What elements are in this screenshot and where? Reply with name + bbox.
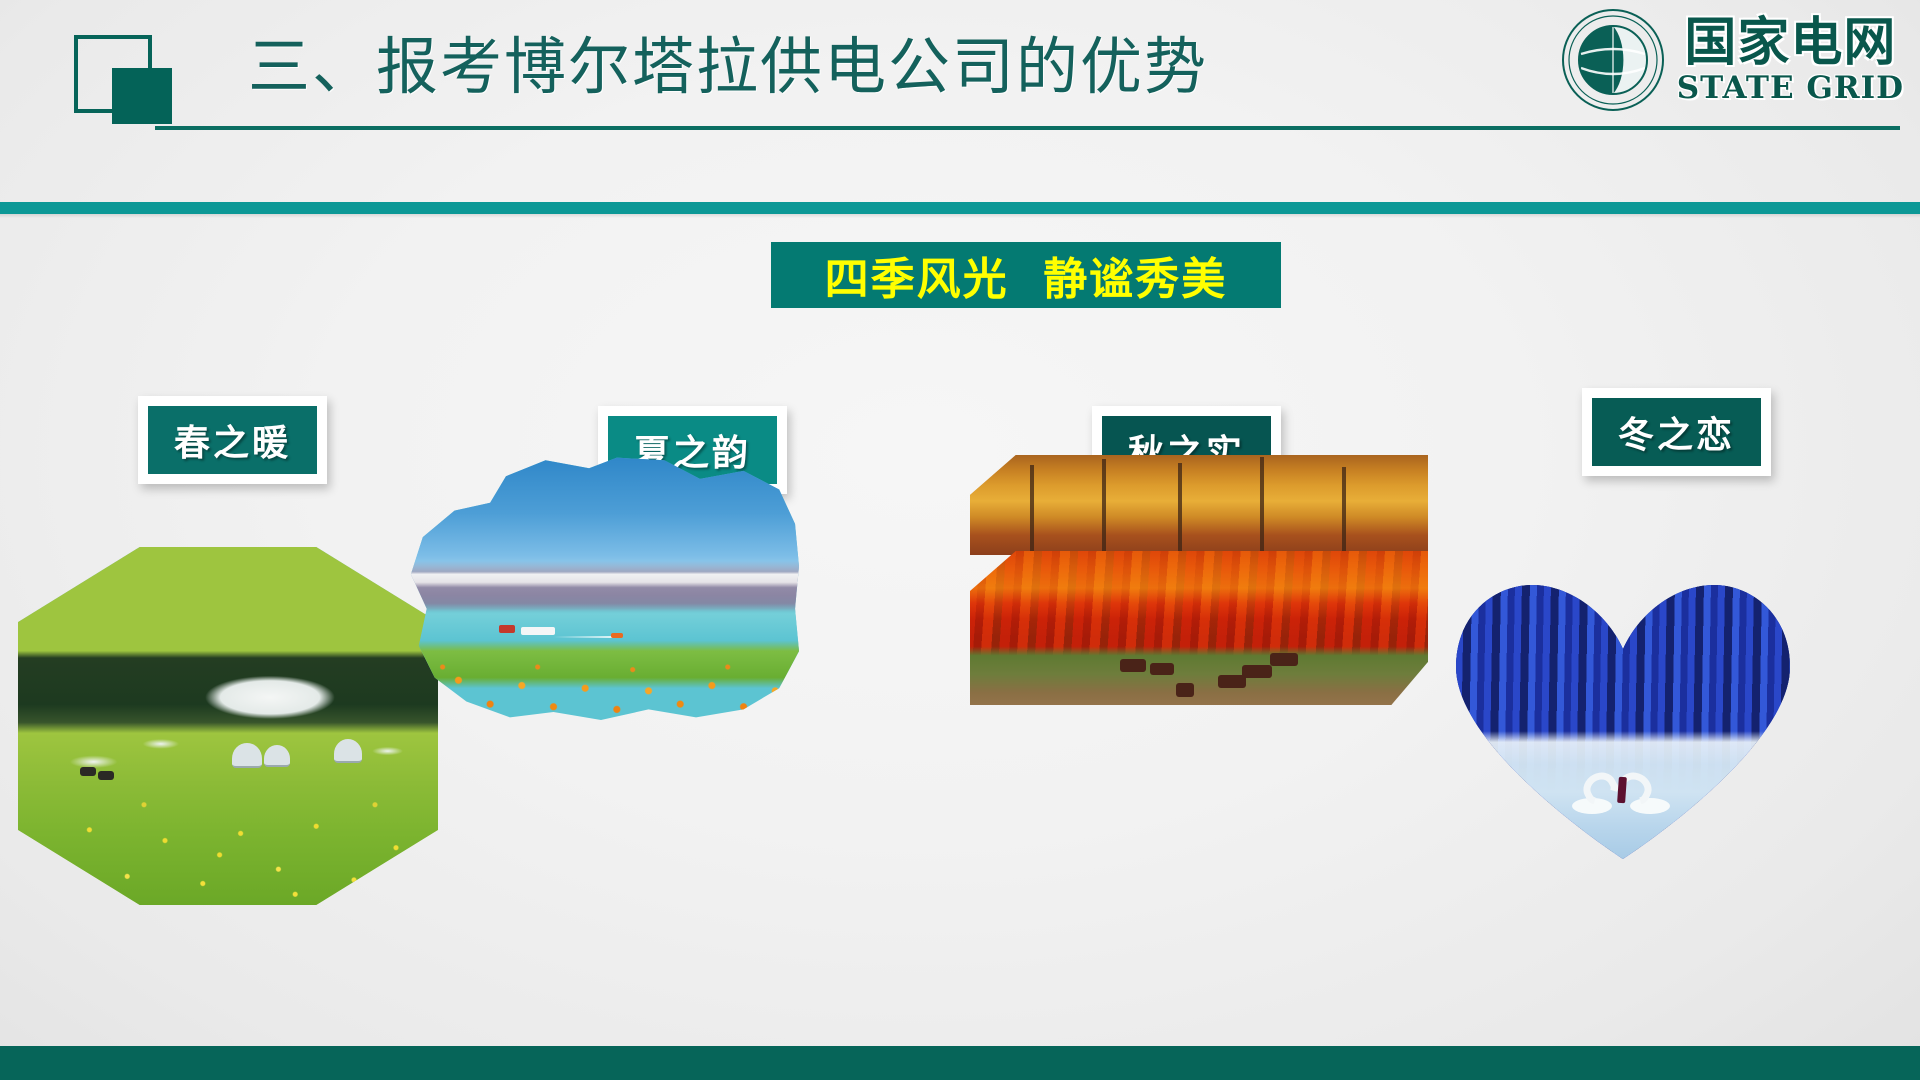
- tree-trunk-shape: [1102, 459, 1106, 555]
- tree-trunk-shape: [1260, 457, 1264, 555]
- season-label-spring-text: 春之暖: [174, 414, 291, 466]
- season-photo-autumn-top: [970, 455, 1428, 555]
- season-photo-spring: [18, 547, 438, 905]
- horse-shape: [1218, 675, 1246, 688]
- season-label-spring: 春之暖: [138, 396, 327, 484]
- horse-shape: [1176, 683, 1194, 697]
- season-label-spring-plate: 春之暖: [148, 406, 317, 474]
- shore-structure-shape: [521, 627, 555, 635]
- season-photo-winter: [1450, 581, 1796, 859]
- logo-company-en: STATE GRID: [1677, 73, 1904, 104]
- logo-company-cn: 国家电网: [1684, 17, 1896, 69]
- horse-shape: [1150, 663, 1174, 675]
- livestock-shape: [98, 771, 114, 780]
- header-divider-band: [0, 202, 1920, 214]
- slide: 三、报考博尔塔拉供电公司的优势 国家电网 STATE GRID 四季风光 静谧秀…: [0, 0, 1920, 1080]
- season-photo-summer: [403, 455, 799, 720]
- yurt-shape: [264, 745, 290, 767]
- tree-trunk-shape: [1030, 465, 1034, 555]
- horse-shape: [1120, 659, 1146, 672]
- boat-shape: [611, 633, 623, 638]
- horse-shape: [1270, 653, 1298, 666]
- state-grid-emblem-icon: [1561, 8, 1665, 112]
- title-underline-rule: [155, 126, 1900, 130]
- state-grid-logo: 国家电网 STATE GRID: [1561, 8, 1904, 112]
- season-label-winter: 冬之恋: [1582, 388, 1771, 476]
- section-banner-text: 四季风光 静谧秀美: [825, 243, 1228, 307]
- footer-bar: [0, 1046, 1920, 1080]
- header-divider-shadow: [0, 214, 1920, 218]
- season-label-winter-text: 冬之恋: [1618, 406, 1735, 458]
- yurt-shape: [232, 743, 262, 768]
- horse-shape: [1242, 665, 1272, 678]
- season-label-winter-plate: 冬之恋: [1592, 398, 1761, 466]
- boat-wake-shape: [553, 636, 615, 638]
- slide-header: 三、报考博尔塔拉供电公司的优势 国家电网 STATE GRID: [0, 0, 1920, 202]
- livestock-shape: [80, 767, 96, 776]
- page-title: 三、报考博尔塔拉供电公司的优势: [248, 16, 1208, 106]
- tree-trunk-shape: [1178, 463, 1182, 555]
- season-photo-autumn: [970, 551, 1428, 705]
- tree-trunk-shape: [1342, 467, 1346, 555]
- decor-square-solid-icon: [112, 68, 172, 124]
- logo-wordmark: 国家电网 STATE GRID: [1677, 17, 1904, 104]
- yurt-shape: [334, 739, 362, 763]
- shore-structure-shape: [499, 625, 515, 633]
- section-banner: 四季风光 静谧秀美: [771, 242, 1281, 308]
